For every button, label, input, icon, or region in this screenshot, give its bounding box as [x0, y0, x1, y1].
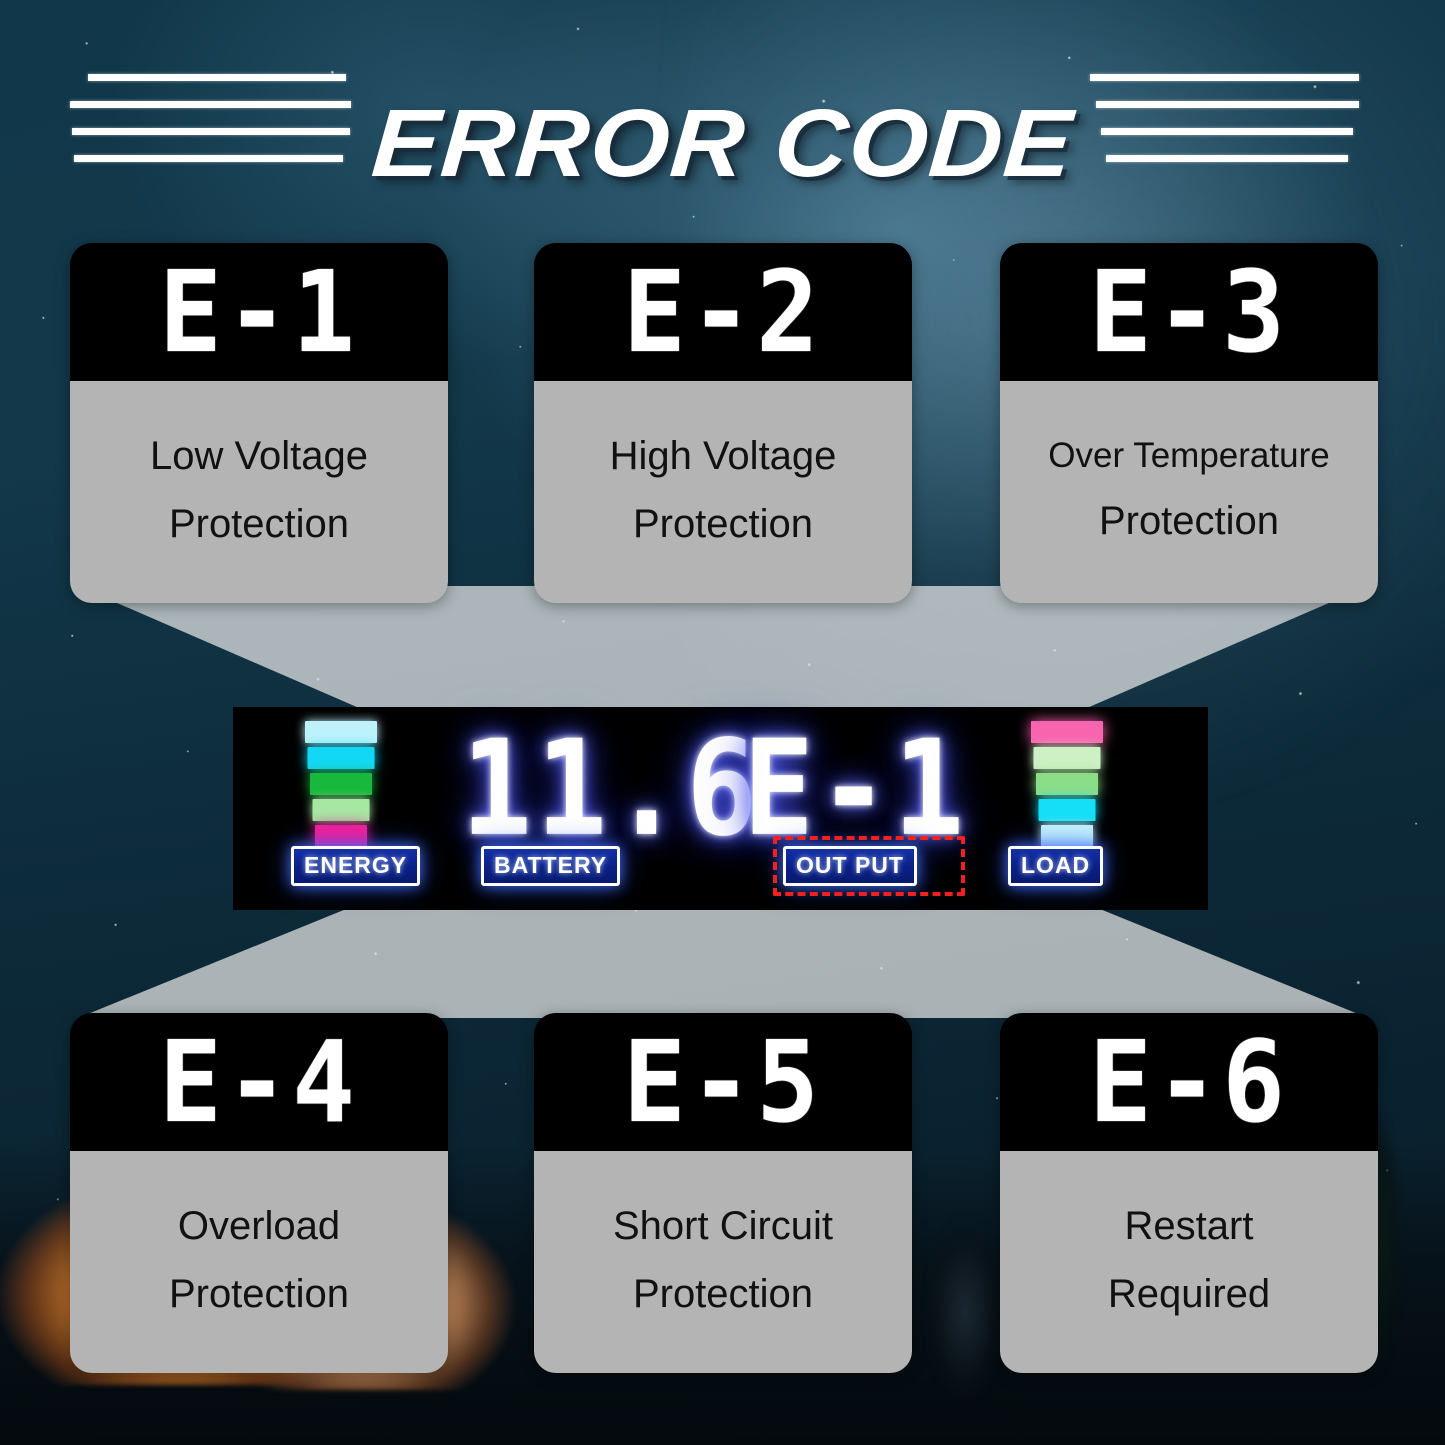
output-error-readout: E-1	[743, 722, 968, 854]
error-card-e6[interactable]: E-6 Restart Required	[1000, 1013, 1378, 1373]
error-card-header: E-3	[1000, 243, 1378, 381]
error-card-line2: Protection	[546, 503, 900, 545]
error-card-line1: Short Circuit	[546, 1205, 900, 1247]
error-card-e1[interactable]: E-1 Low Voltage Protection	[70, 243, 448, 603]
error-card-e5[interactable]: E-5 Short Circuit Protection	[534, 1013, 912, 1373]
error-code-display: E-1	[159, 256, 359, 368]
error-card-line1: Low Voltage	[82, 435, 436, 477]
error-card-e3[interactable]: E-3 Over Temperature Protection	[1000, 243, 1378, 603]
error-card-body: Over Temperature Protection	[1000, 381, 1378, 603]
error-code-display: E-5	[623, 1026, 823, 1138]
load-bar-indicator	[1023, 721, 1111, 851]
page-title: ERROR CODE	[0, 96, 1445, 192]
panel-label-energy[interactable]: ENERGY	[291, 846, 420, 886]
error-card-line1: High Voltage	[546, 435, 900, 477]
energy-bar-segment-5	[315, 825, 367, 847]
error-code-display: E-4	[159, 1026, 359, 1138]
error-card-header: E-2	[534, 243, 912, 381]
error-code-display: E-6	[1089, 1026, 1289, 1138]
error-card-line2: Protection	[546, 1273, 900, 1315]
energy-bar-indicator	[297, 721, 385, 851]
panel-label-battery[interactable]: BATTERY	[481, 846, 620, 886]
energy-bar-segment-3	[310, 773, 372, 795]
error-card-header: E-5	[534, 1013, 912, 1151]
load-bar-segment-1	[1031, 721, 1103, 743]
error-card-body: Short Circuit Protection	[534, 1151, 912, 1373]
title-decor-line-left-1	[88, 74, 346, 81]
error-code-display: E-2	[623, 256, 823, 368]
energy-bar-segment-1	[305, 721, 377, 743]
error-card-header: E-6	[1000, 1013, 1378, 1151]
error-card-e4[interactable]: E-4 Overload Protection	[70, 1013, 448, 1373]
error-card-body: Overload Protection	[70, 1151, 448, 1373]
panel-label-load[interactable]: LOAD	[1008, 846, 1103, 886]
error-card-body: Low Voltage Protection	[70, 381, 448, 603]
load-bar-segment-2	[1034, 747, 1101, 769]
title-decor-line-right-1	[1090, 74, 1359, 81]
error-card-line2: Protection	[1012, 500, 1366, 542]
error-card-line1: Over Temperature	[1012, 438, 1366, 475]
error-card-body: High Voltage Protection	[534, 381, 912, 603]
error-card-line1: Overload	[82, 1205, 436, 1247]
energy-bar-segment-2	[308, 747, 375, 769]
battery-voltage-readout: 11.6	[461, 722, 761, 854]
error-card-line2: Protection	[82, 503, 436, 545]
error-card-line2: Required	[1012, 1273, 1366, 1315]
page-header: ERROR CODE	[0, 48, 1445, 168]
error-card-e2[interactable]: E-2 High Voltage Protection	[534, 243, 912, 603]
energy-bar-segment-4	[313, 799, 370, 821]
error-card-body: Restart Required	[1000, 1151, 1378, 1373]
load-bar-segment-4	[1039, 799, 1096, 821]
error-card-header: E-1	[70, 243, 448, 381]
lcd-display-panel[interactable]: 11.6 E-1 ENERGY BATTERY OUT PUT LOAD	[233, 707, 1208, 910]
error-card-line2: Protection	[82, 1273, 436, 1315]
load-bar-segment-3	[1036, 773, 1098, 795]
load-bar-segment-5	[1041, 825, 1093, 847]
panel-label-output[interactable]: OUT PUT	[783, 846, 917, 886]
error-card-header: E-4	[70, 1013, 448, 1151]
error-code-display: E-3	[1089, 256, 1289, 368]
error-card-line1: Restart	[1012, 1205, 1366, 1247]
